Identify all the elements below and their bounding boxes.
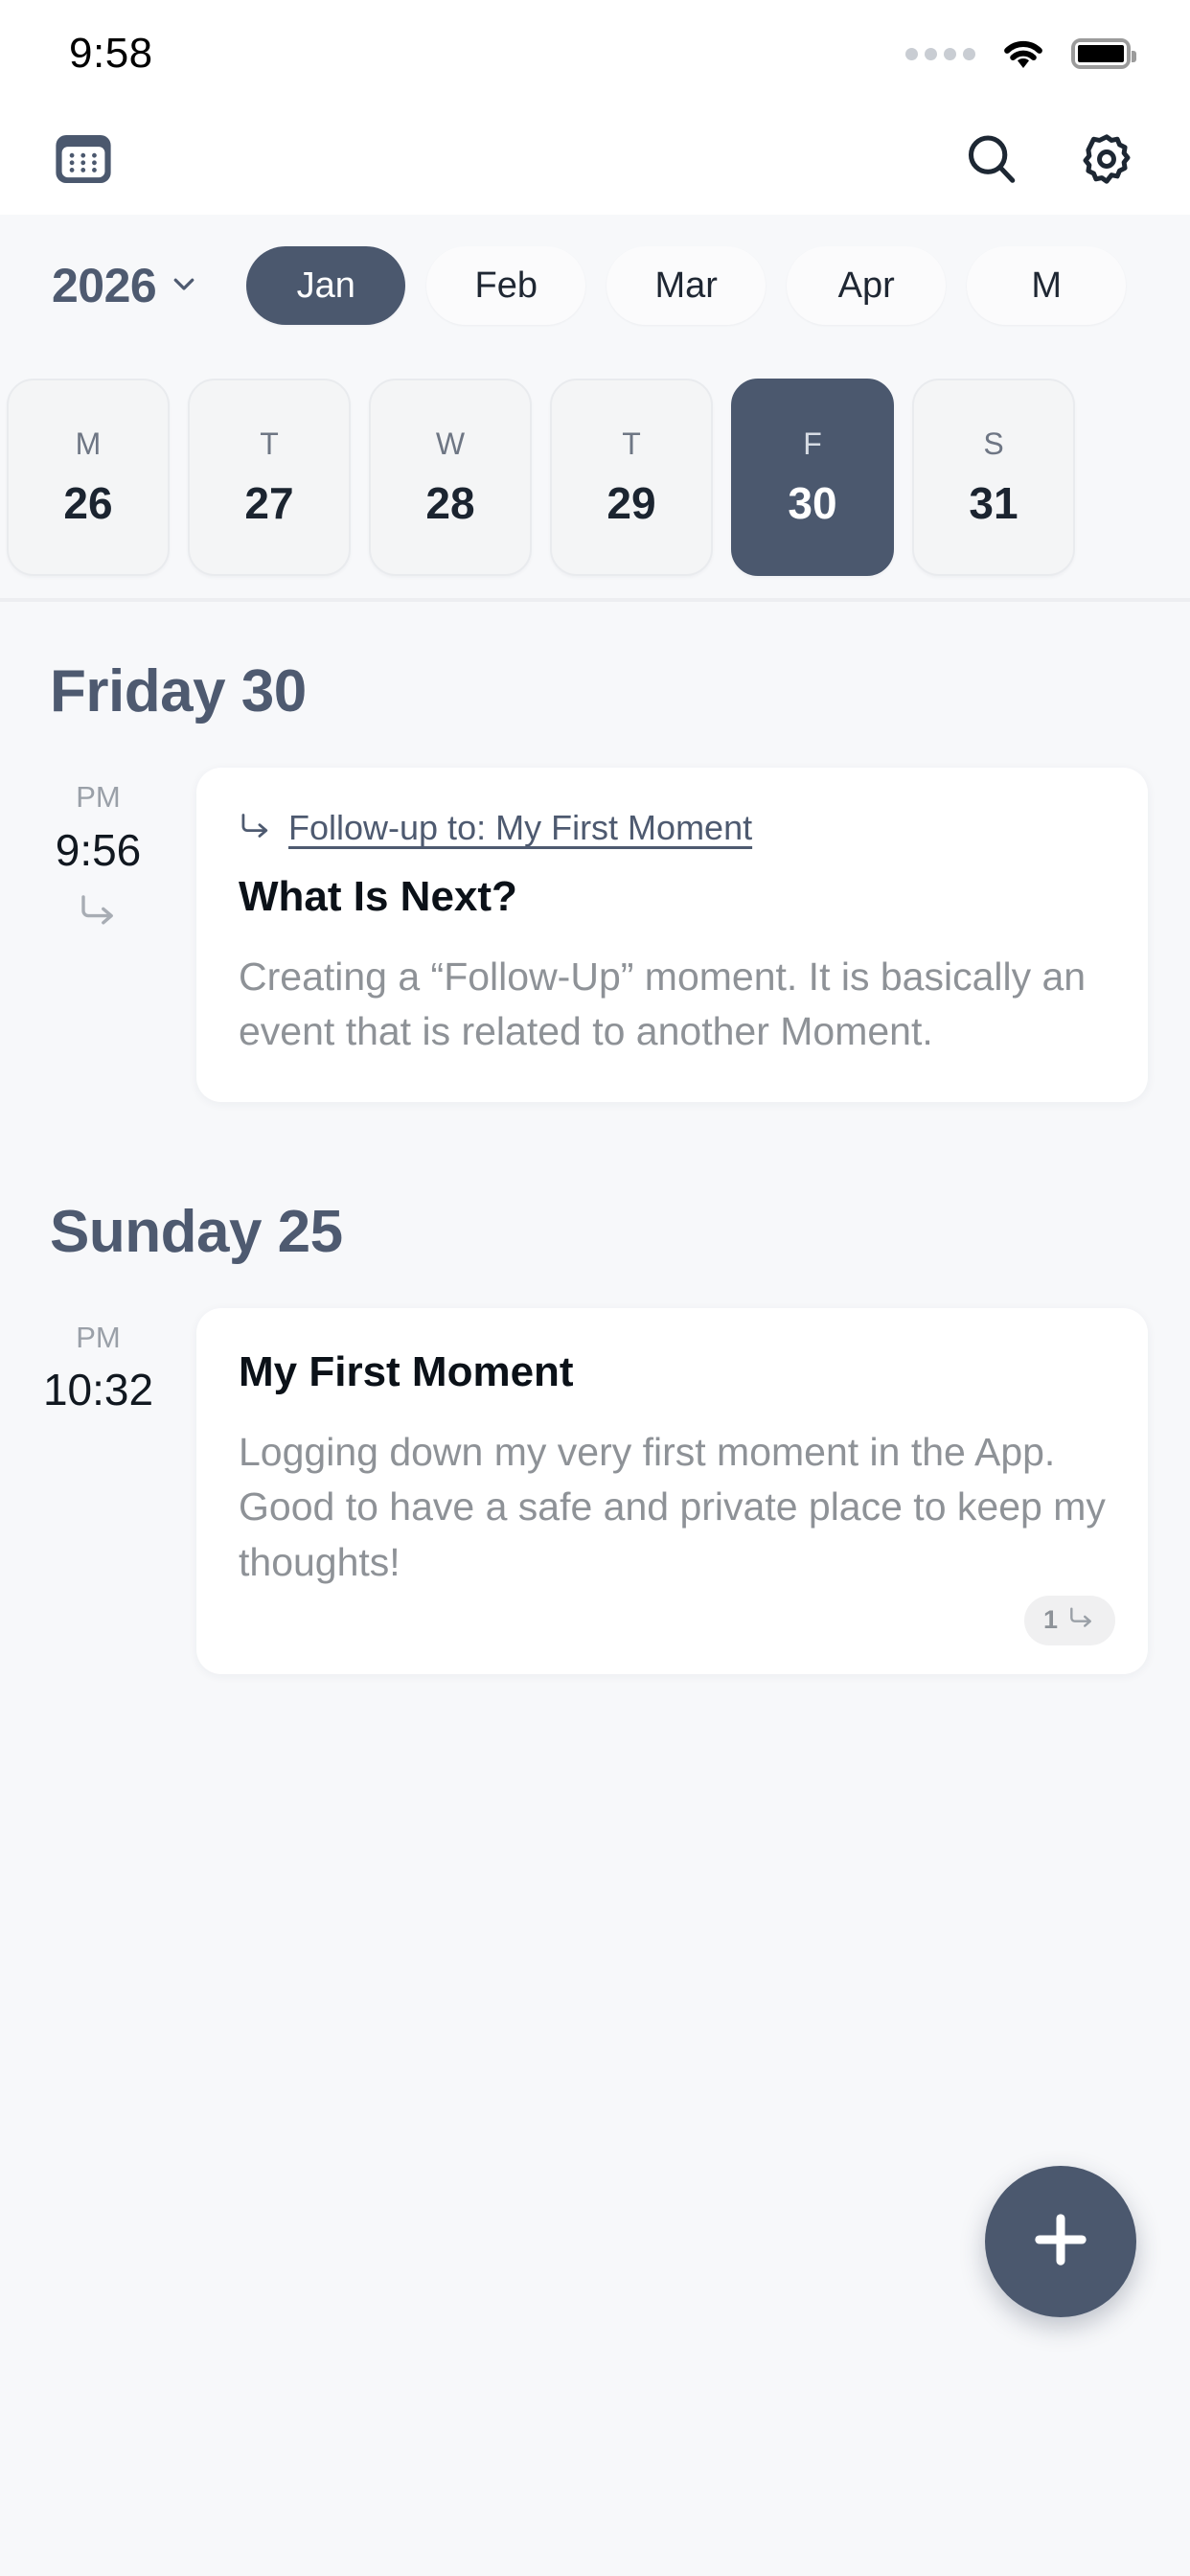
wifi-icon [1000, 36, 1046, 71]
timeline-entry[interactable]: PM 10:32 My First Moment Logging down my… [0, 1266, 1190, 1674]
month-pill-jan[interactable]: Jan [246, 246, 405, 325]
day-cell-dow: T [622, 426, 641, 462]
signal-dots-icon [905, 48, 975, 60]
day-cell-29[interactable]: T 29 [550, 379, 713, 576]
entry-time-column: PM 9:56 [0, 768, 196, 932]
moment-card[interactable]: My First Moment Logging down my very fir… [196, 1308, 1148, 1674]
day-strip[interactable]: S 5 M 26 T 27 W 28 T 29 F 30 S 31 [0, 356, 1190, 598]
app-bar-actions [964, 131, 1134, 192]
day-cell-dow: F [803, 426, 822, 462]
month-pill-label: Mar [655, 265, 718, 307]
day-cell-28[interactable]: W 28 [369, 379, 532, 576]
moment-title: What Is Next? [239, 873, 1106, 921]
month-pill-feb[interactable]: Feb [426, 246, 585, 325]
moment-card[interactable]: Follow-up to: My First Moment What Is Ne… [196, 768, 1148, 1102]
moment-body: Creating a “Follow-Up” moment. It is bas… [239, 950, 1106, 1060]
day-cell-31[interactable]: S 31 [912, 379, 1075, 576]
month-pill-label: Apr [838, 265, 895, 307]
status-bar-clock: 9:58 [69, 30, 153, 78]
follow-up-link-label: Follow-up to: My First Moment [288, 808, 752, 848]
day-cell-dow: W [436, 426, 465, 462]
timeline-content: Friday 30 PM 9:56 Follow-up to: My [0, 602, 1190, 2484]
follow-up-arrow-icon [239, 812, 273, 845]
month-pill-may[interactable]: M [967, 246, 1126, 325]
gear-icon[interactable] [1079, 131, 1134, 192]
moment-body: Logging down my very first moment in the… [239, 1425, 1106, 1632]
add-moment-button[interactable] [985, 2166, 1136, 2317]
day-cell-dow: S [983, 426, 1003, 462]
follow-up-arrow-icon [0, 893, 196, 932]
month-pill-label: Feb [474, 265, 537, 307]
follow-up-arrow-icon [1067, 1606, 1096, 1634]
status-bar: 9:58 [0, 0, 1190, 107]
plus-icon [1027, 2206, 1094, 2278]
month-selector-bar[interactable]: 2026 Jan Feb Mar Apr M [0, 215, 1190, 356]
chevron-down-icon[interactable] [170, 269, 198, 303]
day-cell-30[interactable]: F 30 [731, 379, 894, 576]
day-cell-number: 29 [606, 477, 655, 529]
month-pill-mar[interactable]: Mar [606, 246, 766, 325]
day-section-heading: Friday 30 [0, 602, 1190, 725]
day-section-heading: Sunday 25 [0, 1102, 1190, 1266]
calendar-icon[interactable] [54, 131, 113, 192]
day-cell-26[interactable]: M 26 [7, 379, 170, 576]
month-pill-label: M [1031, 265, 1062, 307]
follow-up-count: 1 [1043, 1605, 1058, 1635]
follow-up-count-badge[interactable]: 1 [1024, 1596, 1115, 1645]
search-icon[interactable] [964, 131, 1019, 192]
entry-time-column: PM 10:32 [0, 1308, 196, 1420]
day-cell-number: 27 [244, 477, 293, 529]
status-bar-indicators [905, 36, 1131, 71]
entry-ampm: PM [0, 775, 196, 820]
day-cell-number: 30 [788, 477, 836, 529]
entry-time: 10:32 [0, 1360, 196, 1419]
day-cell-dow: M [76, 426, 102, 462]
day-cell-dow: T [260, 426, 279, 462]
moment-title: My First Moment [239, 1348, 1106, 1396]
day-cell-number: 31 [969, 477, 1018, 529]
follow-up-link[interactable]: Follow-up to: My First Moment [239, 808, 1106, 848]
month-pill-list[interactable]: Jan Feb Mar Apr M [246, 246, 1190, 325]
entry-ampm: PM [0, 1316, 196, 1361]
month-pill-apr[interactable]: Apr [787, 246, 946, 325]
year-label: 2026 [52, 258, 156, 313]
year-selector[interactable]: 2026 [52, 258, 198, 313]
day-cell-number: 28 [425, 477, 474, 529]
day-cell-27[interactable]: T 27 [188, 379, 351, 576]
day-cell-number: 26 [63, 477, 112, 529]
timeline-entry[interactable]: PM 9:56 Follow-up to: My First Moment [0, 725, 1190, 1102]
app-bar [0, 107, 1190, 215]
month-pill-label: Jan [297, 265, 355, 307]
entry-time: 9:56 [0, 820, 196, 880]
battery-full-icon [1071, 38, 1131, 69]
